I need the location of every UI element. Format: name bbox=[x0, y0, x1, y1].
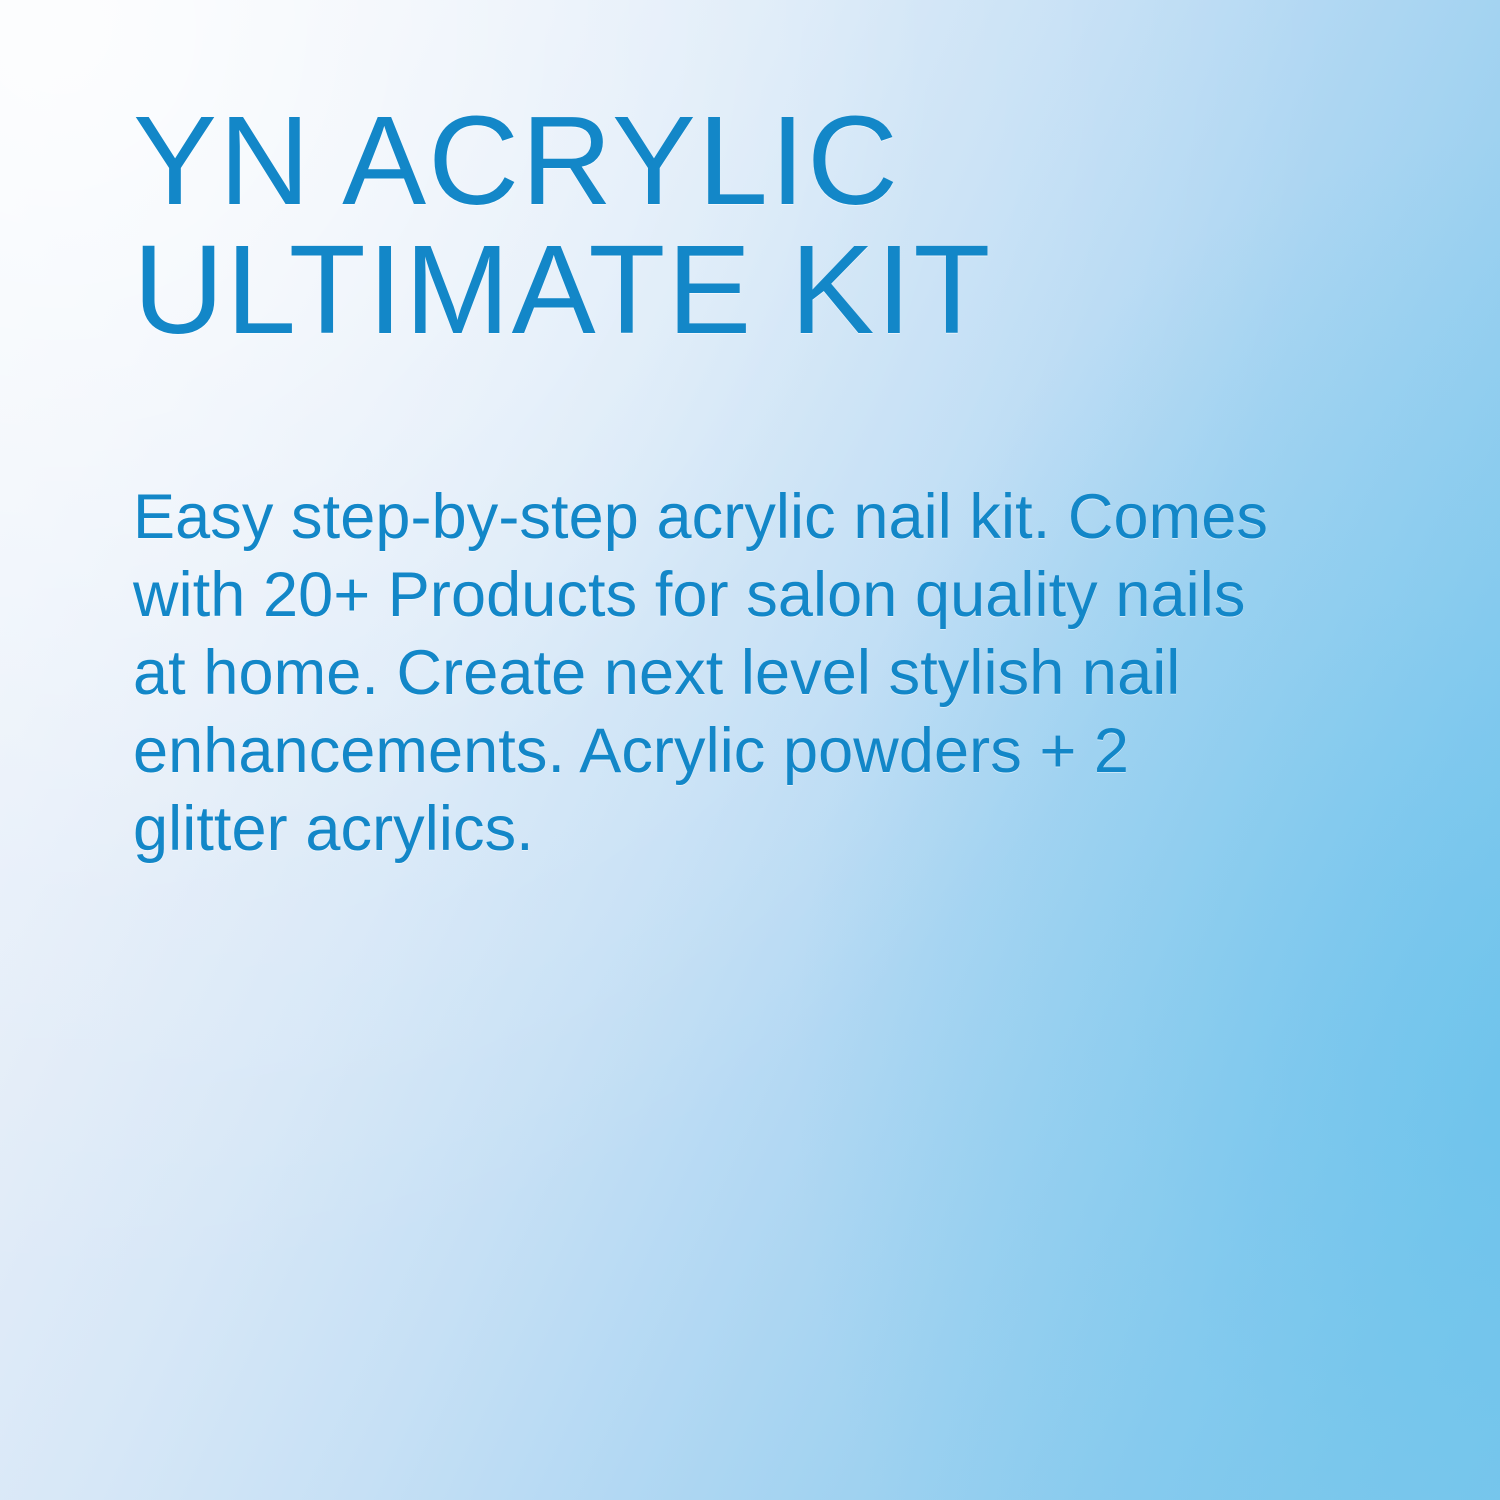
page-title-line-2: ULTIMATE KIT bbox=[133, 225, 1308, 354]
banner-text-block: YN ACRYLIC ULTIMATE KIT Easy step-by-ste… bbox=[133, 96, 1308, 868]
page-title: YN ACRYLIC ULTIMATE KIT bbox=[133, 96, 1308, 354]
product-info-banner: YN ACRYLIC ULTIMATE KIT Easy step-by-ste… bbox=[0, 0, 1500, 1500]
page-title-line-1: YN ACRYLIC bbox=[133, 96, 1308, 225]
product-description: Easy step-by-step acrylic nail kit. Come… bbox=[133, 478, 1293, 868]
